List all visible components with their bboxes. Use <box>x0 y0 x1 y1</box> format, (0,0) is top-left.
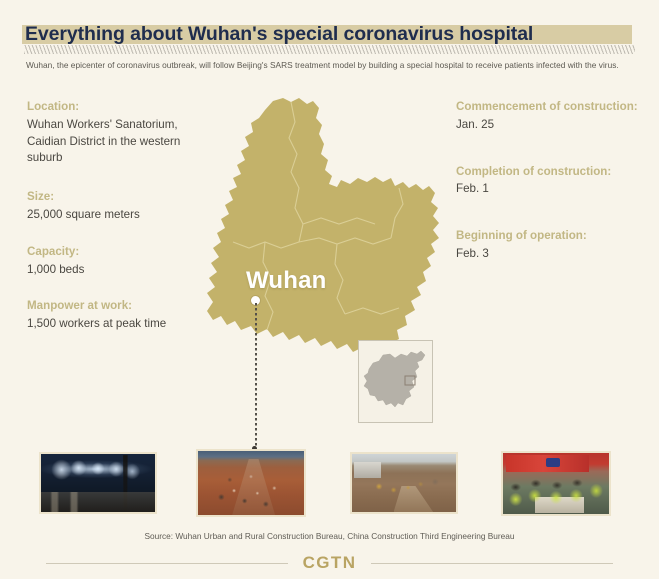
fact-value: Wuhan Workers' Sanatorium, Caidian Distr… <box>27 117 212 167</box>
fact-commencement: Commencement of construction: Jan. 25 <box>456 99 651 134</box>
fact-label: Size: <box>27 189 212 206</box>
photo-foreground-railing <box>41 492 155 512</box>
fact-size: Size: 25,000 square meters <box>27 189 212 224</box>
footer-logo-row: CGTN <box>0 551 659 575</box>
fact-value: Feb. 1 <box>456 181 651 198</box>
fact-value: 1,000 beds <box>27 262 212 279</box>
fact-value: 25,000 square meters <box>27 207 212 224</box>
hatch-divider <box>24 45 635 54</box>
cgtn-logo: CGTN <box>288 553 372 573</box>
fact-capacity: Capacity: 1,000 beds <box>27 244 212 279</box>
facts-right-column: Commencement of construction: Jan. 25 Co… <box>456 99 651 293</box>
fact-location: Location: Wuhan Workers' Sanatorium, Cai… <box>27 99 212 167</box>
photo-daytime-site <box>350 452 458 514</box>
wuhan-region-shape <box>207 98 439 358</box>
header: Everything about Wuhan's special coronav… <box>0 14 659 44</box>
photo-aerial-site <box>196 449 306 517</box>
logo-rule-left <box>46 563 288 564</box>
city-label-wuhan: Wuhan <box>246 267 327 295</box>
logo-rule-right <box>371 563 613 564</box>
china-inset-map <box>358 340 433 423</box>
china-outline <box>364 351 425 407</box>
photo-night-construction <box>39 452 157 514</box>
source-credit: Source: Wuhan Urban and Rural Constructi… <box>0 531 659 541</box>
fact-label: Location: <box>27 99 212 116</box>
leader-line <box>255 303 257 448</box>
photo-image <box>41 454 155 512</box>
photo-image <box>352 454 456 512</box>
photo-machinery <box>198 451 304 515</box>
fact-label: Completion of construction: <box>456 164 651 181</box>
fact-value: Feb. 3 <box>456 246 651 263</box>
fact-value: 1,500 workers at peak time <box>27 316 212 333</box>
page-title: Everything about Wuhan's special coronav… <box>25 23 533 46</box>
fact-label: Commencement of construction: <box>456 99 651 116</box>
photo-machinery <box>352 454 456 512</box>
fact-label: Manpower at work: <box>27 298 212 315</box>
photo-image <box>503 453 609 514</box>
fact-value: Jan. 25 <box>456 117 651 134</box>
fact-label: Beginning of operation: <box>456 228 651 245</box>
facts-left-column: Location: Wuhan Workers' Sanatorium, Cai… <box>27 99 212 349</box>
fact-completion: Completion of construction: Feb. 1 <box>456 164 651 199</box>
photo-workers-meeting <box>501 451 611 516</box>
fact-manpower: Manpower at work: 1,500 workers at peak … <box>27 298 212 333</box>
map-shape-group <box>207 98 439 358</box>
photo-workers <box>503 453 609 514</box>
fact-label: Capacity: <box>27 244 212 261</box>
inset-map-svg <box>359 341 432 422</box>
subtitle: Wuhan, the epicenter of coronavirus outb… <box>26 60 634 70</box>
infographic-canvas: Everything about Wuhan's special coronav… <box>0 0 659 579</box>
photo-image <box>198 451 304 515</box>
fact-operation: Beginning of operation: Feb. 3 <box>456 228 651 263</box>
